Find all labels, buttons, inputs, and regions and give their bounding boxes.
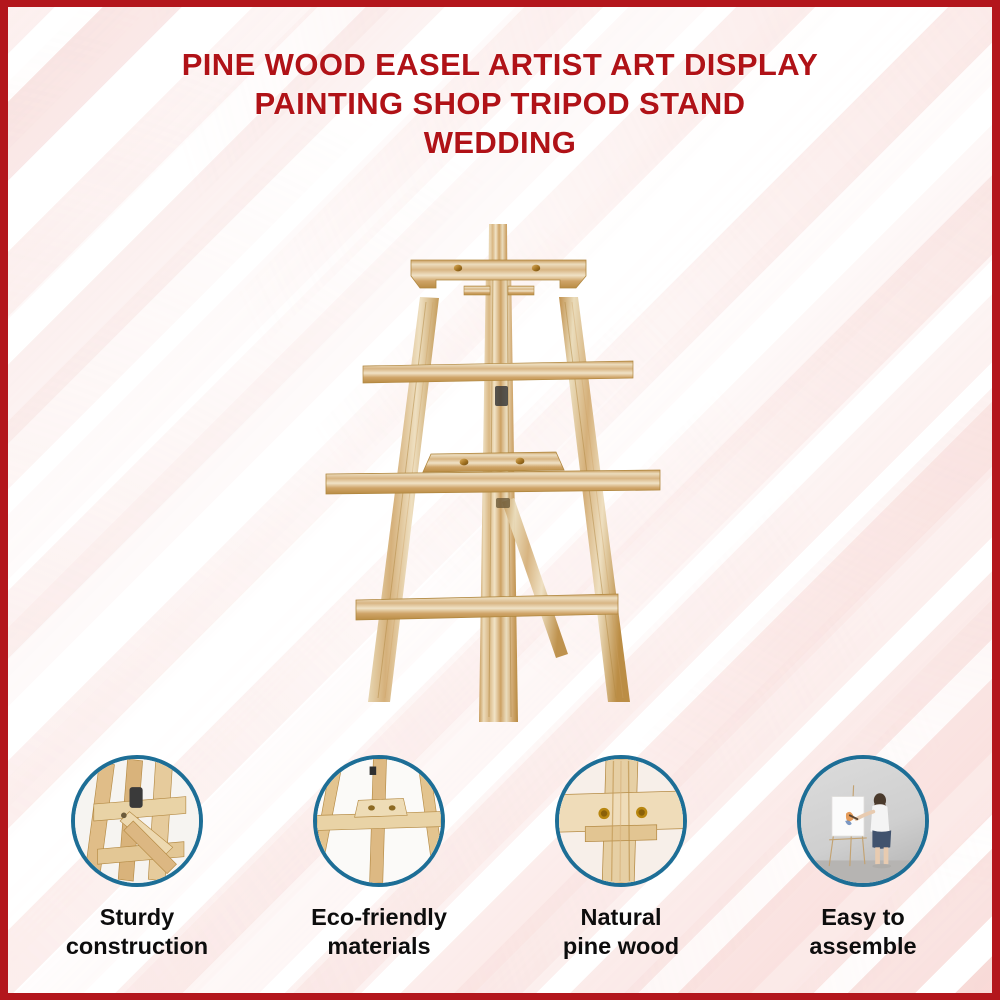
product-poster: PINE WOOD EASEL ARTIST ART DISPLAY PAINT… — [0, 0, 1000, 1000]
feature-label: Eco-friendly materials — [311, 903, 447, 960]
feature-easy-to-assemble: Easy to assemble — [742, 755, 984, 985]
feature-label: Natural pine wood — [563, 903, 679, 960]
hero-product-image — [268, 202, 738, 732]
thumbnail-easel-joint-closeup — [71, 755, 203, 887]
poster-title-block: PINE WOOD EASEL ARTIST ART DISPLAY PAINT… — [8, 45, 992, 162]
feature-sturdy-construction: Sturdy construction — [16, 755, 258, 985]
feature-label: Sturdy construction — [66, 903, 208, 960]
feature-highlights-row: Sturdy construction — [16, 755, 984, 985]
feature-eco-friendly-materials: Eco-friendly materials — [258, 755, 500, 985]
feature-label: Easy to assemble — [809, 903, 916, 960]
poster-canvas: PINE WOOD EASEL ARTIST ART DISPLAY PAINT… — [8, 7, 992, 993]
feature-natural-pine-wood: Natural pine wood — [500, 755, 742, 985]
thumbnail-person-painting-at-easel — [797, 755, 929, 887]
thumbnail-pine-grain-screws-closeup — [555, 755, 687, 887]
thumbnail-easel-crossbar-closeup — [313, 755, 445, 887]
page-title: PINE WOOD EASEL ARTIST ART DISPLAY PAINT… — [180, 45, 820, 162]
